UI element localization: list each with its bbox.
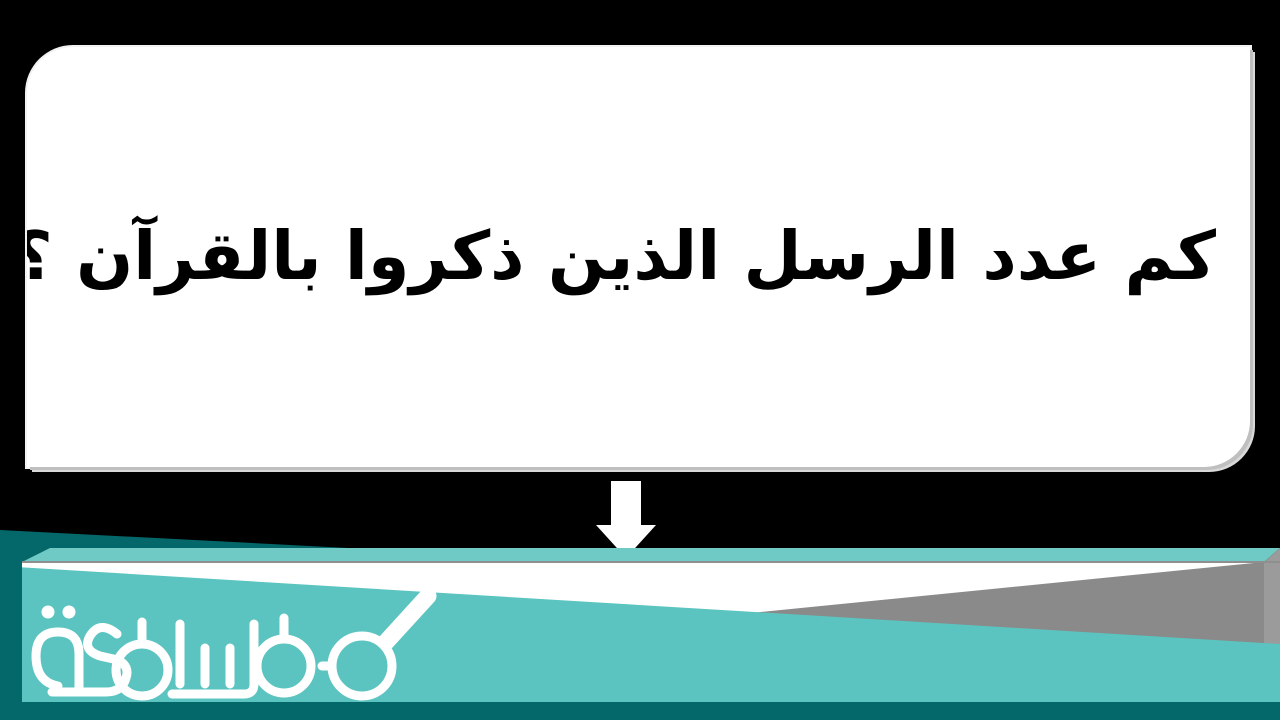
question-card-inner: كم عدد الرسل الذين ذكروا بالقرآن ؟ [27,217,1250,296]
bottom-dark-strip [0,702,1280,720]
brand-banner: موسوعة [0,506,1280,720]
panel-top-rule [22,561,1280,563]
question-card: كم عدد الرسل الذين ذكروا بالقرآن ؟ [27,47,1250,467]
brand-banner-graphic [0,506,1280,720]
slide-canvas: كم عدد الرسل الذين ذكروا بالقرآن ؟ [0,0,1280,720]
question-text: كم عدد الرسل الذين ذكروا بالقرآن ؟ [61,217,1216,296]
left-dark-gutter [0,530,22,702]
panel-top-bevel [22,548,1280,562]
